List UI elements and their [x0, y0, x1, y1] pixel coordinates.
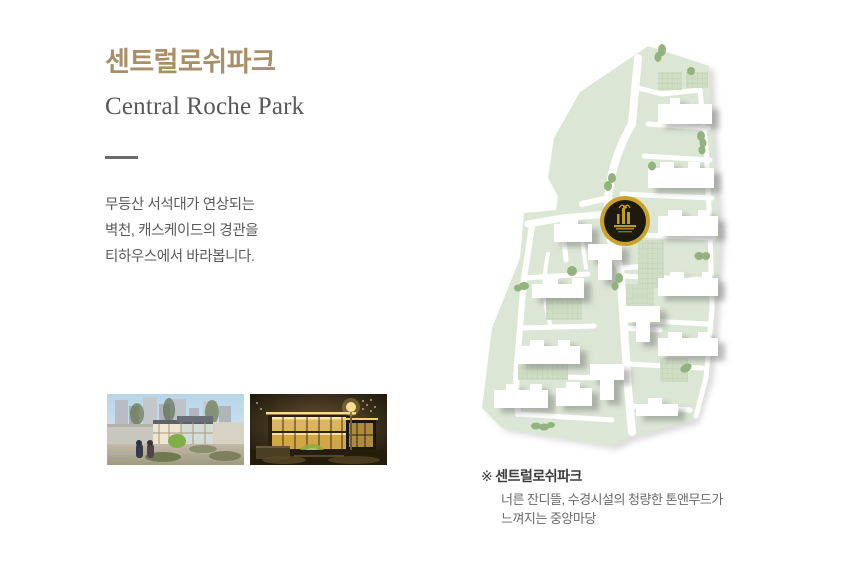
description-line-3: 티하우스에서 바라봅니다. [105, 244, 435, 270]
caption-title-row: ※센트럴로쉬파크 [481, 466, 801, 486]
caption-description: 너른 잔디뜰, 수경시설의 청량한 톤앤무드가 느껴지는 중앙마당 [501, 490, 801, 528]
site-plan-map [462, 28, 752, 468]
page-title-english: Central Roche Park [105, 92, 435, 122]
caption-description-line-2: 느껴지는 중앙마당 [501, 509, 801, 528]
description-text: 무등산 서석대가 연상되는 벽천, 캐스케이드의 경관을 티하우스에서 바라봅니… [105, 192, 435, 270]
page-title-korean: 센트럴로쉬파크 [105, 46, 435, 78]
description-line-2: 벽천, 캐스케이드의 경관을 [105, 218, 435, 244]
reference-mark-icon: ※ [481, 468, 492, 484]
photo-teahouse-night[interactable] [250, 394, 387, 465]
caption-title: 센트럴로쉬파크 [495, 468, 582, 484]
photo-gallery [107, 394, 387, 465]
central-roche-park-marker [600, 196, 650, 246]
map-caption: ※센트럴로쉬파크 너른 잔디뜰, 수경시설의 청량한 톤앤무드가 느껴지는 중앙… [481, 466, 801, 528]
photo-teahouse-day[interactable] [107, 394, 244, 465]
caption-description-line-1: 너른 잔디뜰, 수경시설의 청량한 톤앤무드가 [501, 490, 801, 509]
title-divider [105, 156, 138, 159]
intro-text-block: 센트럴로쉬파크 Central Roche Park 무등산 서석대가 연상되는… [105, 46, 435, 270]
description-line-1: 무등산 서석대가 연상되는 [105, 192, 435, 218]
